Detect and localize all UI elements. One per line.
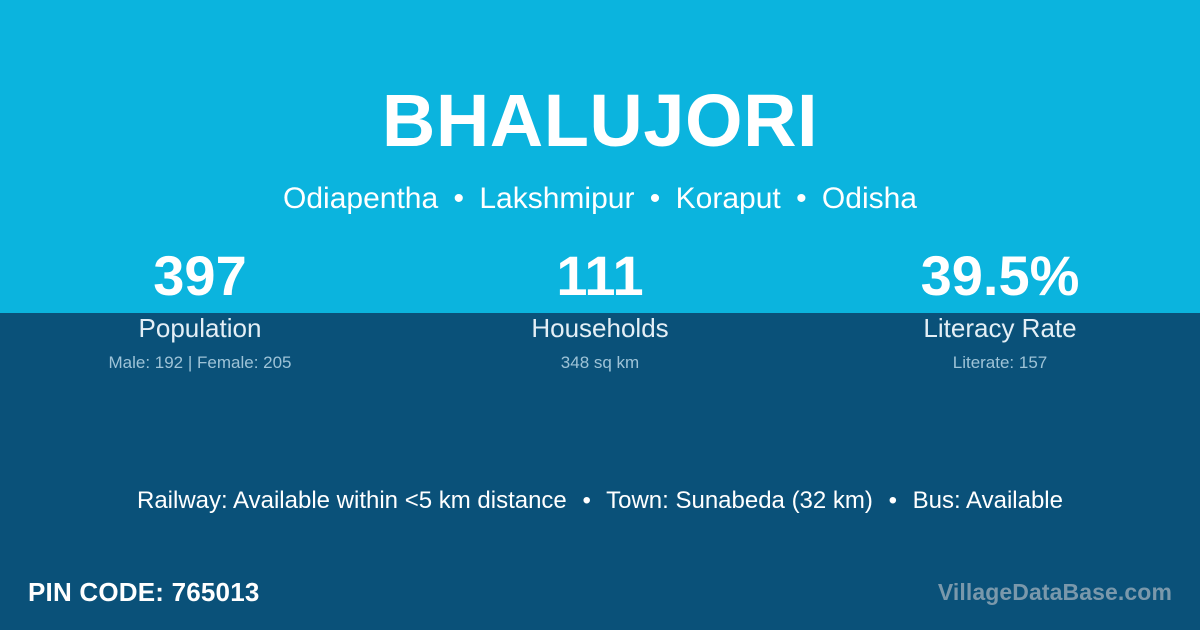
breadcrumb-item-state: Odisha	[822, 182, 917, 215]
breadcrumb-separator: •	[643, 182, 668, 215]
stat-literacy-rate: 39.5% Literacy Rate Literate: 157	[800, 246, 1200, 373]
breadcrumb-item-district: Koraput	[676, 182, 781, 215]
stat-label-literacy-rate: Literacy Rate	[800, 314, 1200, 342]
infrastructure-item-town: Town: Sunabeda (32 km)	[606, 487, 873, 514]
breadcrumb-item-panchayat: Odiapentha	[283, 182, 438, 215]
stat-sub-households: 348 sq km	[400, 353, 800, 373]
infrastructure-line: Railway: Available within <5 km distance…	[0, 487, 1200, 515]
stat-sub-population: Male: 192 | Female: 205	[0, 353, 400, 373]
stat-value-households: 111	[400, 246, 800, 306]
stat-value-population: 397	[0, 246, 400, 306]
stat-households: 111 Households 348 sq km	[400, 246, 800, 373]
stat-value-literacy-rate: 39.5%	[800, 246, 1200, 306]
stat-label-households: Households	[400, 314, 800, 342]
infrastructure-separator: •	[573, 487, 599, 514]
infrastructure-separator: •	[880, 487, 906, 514]
pin-code: PIN CODE: 765013	[28, 577, 260, 607]
stat-sub-literacy-rate: Literate: 157	[800, 353, 1200, 373]
breadcrumb-item-block: Lakshmipur	[479, 182, 634, 215]
breadcrumb: Odiapentha • Lakshmipur • Koraput • Odis…	[0, 181, 1200, 217]
brand-watermark: VillageDataBase.com	[938, 578, 1172, 606]
infrastructure-item-railway: Railway: Available within <5 km distance	[137, 487, 567, 514]
page-title: BHALUJORI	[0, 84, 1200, 158]
village-info-card: BHALUJORI Odiapentha • Lakshmipur • Kora…	[0, 0, 1200, 630]
card-footer: PIN CODE: 765013 VillageDataBase.com	[0, 572, 1200, 612]
stat-label-population: Population	[0, 314, 400, 342]
infrastructure-item-bus: Bus: Available	[913, 487, 1063, 514]
stat-population: 397 Population Male: 192 | Female: 205	[0, 246, 400, 373]
breadcrumb-separator: •	[789, 182, 814, 215]
stats-row: 397 Population Male: 192 | Female: 205 1…	[0, 246, 1200, 373]
breadcrumb-separator: •	[447, 182, 472, 215]
